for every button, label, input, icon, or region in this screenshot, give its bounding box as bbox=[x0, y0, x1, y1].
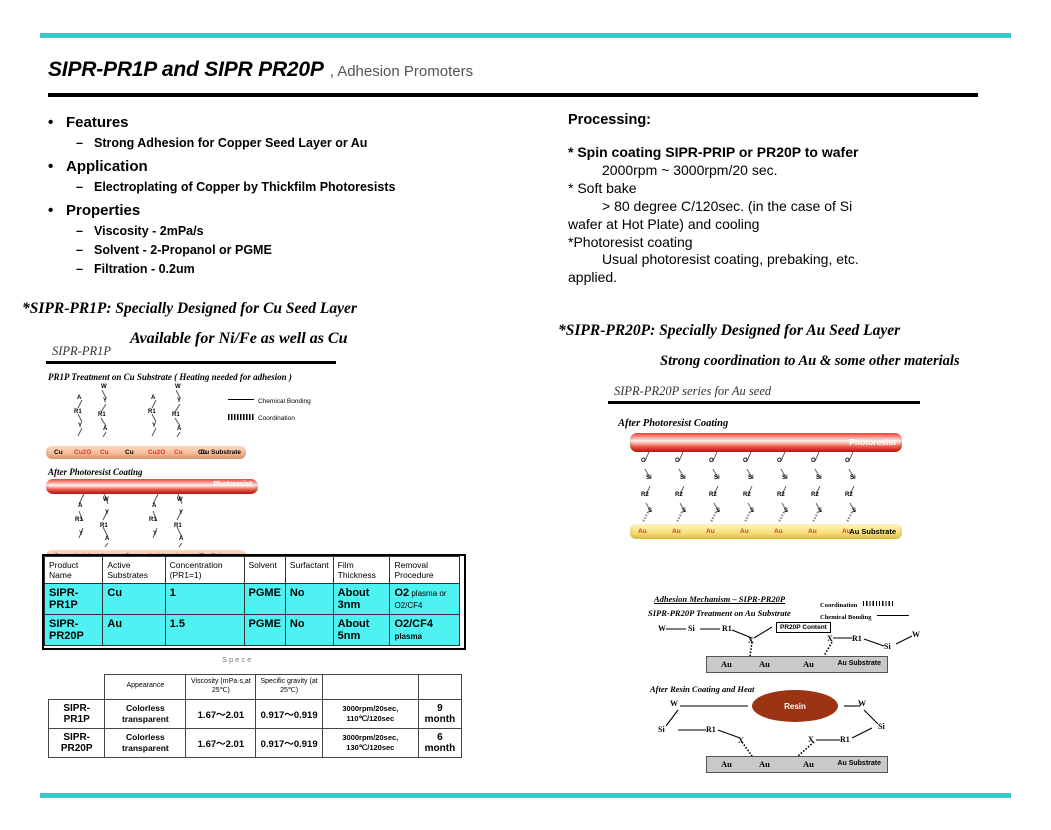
cell-removal: O2/CF4plasma bbox=[390, 615, 460, 646]
chain-lines bbox=[630, 452, 902, 524]
pr20p-panel-caption: SIPR-PR20P series for Au seed bbox=[608, 384, 920, 399]
products-table: Product Name Active Substrates Concentra… bbox=[44, 556, 460, 646]
processing-line: applied. bbox=[568, 269, 1008, 287]
chain-label: W bbox=[103, 497, 109, 503]
dash-glyph: – bbox=[76, 241, 83, 260]
chain-label: R1 bbox=[722, 624, 732, 633]
panel-divider bbox=[608, 401, 920, 404]
chain-label: A bbox=[105, 536, 109, 542]
chain-label: R1 bbox=[174, 523, 182, 529]
col-active-substrates: Active Substrates bbox=[103, 557, 165, 584]
chain-label: Y bbox=[152, 423, 156, 429]
chain-label: Si bbox=[658, 725, 665, 734]
table-header-row: Product Name Active Substrates Concentra… bbox=[45, 557, 460, 584]
cell-removal: O2 plasma or O2/CF4 bbox=[390, 584, 460, 615]
pr20p-content-box: PR20P Content bbox=[776, 622, 831, 633]
chain-label: X bbox=[748, 636, 754, 645]
processing-line: * Soft bake bbox=[568, 180, 1008, 198]
sub-item-label: Electroplating of Copper by Thickfilm Ph… bbox=[94, 180, 395, 194]
bullet-features: • Features –Strong Adhesion for Copper S… bbox=[40, 112, 560, 153]
col-condition bbox=[322, 675, 418, 700]
photoresist-label: Photoresist bbox=[849, 437, 896, 447]
cell-product-name: SIPR-PR20P bbox=[49, 728, 105, 757]
substrate-cell: Au bbox=[740, 528, 749, 535]
chain-label: W bbox=[670, 699, 678, 708]
cell-solvent: PGME bbox=[244, 615, 285, 646]
sub-item-label: Filtration - 0.2um bbox=[94, 262, 195, 276]
cell-concentration: 1.5 bbox=[165, 615, 244, 646]
bullet-glyph: • bbox=[48, 112, 53, 133]
chain-label: R2 bbox=[845, 492, 853, 498]
pr1p-diagram1-caption: PR1P Treatment on Cu Substrate ( Heating… bbox=[48, 372, 336, 382]
chain-label: W bbox=[658, 624, 666, 633]
substrate-cell: Au bbox=[706, 528, 715, 535]
chain-label: O bbox=[845, 458, 850, 464]
chain-lines bbox=[46, 494, 336, 550]
cell-thickness: About 5nm bbox=[333, 615, 390, 646]
bullet-heading: Features bbox=[66, 114, 129, 131]
cell-concentration: 1 bbox=[165, 584, 244, 615]
pr20p-panel: SIPR-PR20P series for Au seed After Phot… bbox=[608, 384, 920, 539]
col-viscosity: Viscosity (mPa·s,at 25℃) bbox=[186, 675, 256, 700]
chain-label: Si bbox=[884, 642, 891, 651]
substrate-cell: Cu bbox=[125, 449, 134, 456]
chain-label: Y bbox=[179, 510, 183, 516]
bottom-accent-bar bbox=[40, 793, 1011, 798]
substrate-label: Au Substrate bbox=[849, 527, 896, 536]
col-appearance: Appearance bbox=[105, 675, 186, 700]
pr1p-headline: *SIPR-PR1P: Specially Designed for Cu Se… bbox=[22, 300, 357, 318]
chain-label: R1 bbox=[172, 412, 180, 418]
chain-label: O bbox=[743, 458, 748, 464]
cell-appearance: Colorless transparent bbox=[105, 728, 186, 757]
chain-label: S bbox=[852, 508, 856, 514]
chain-label: R2 bbox=[743, 492, 751, 498]
processing-line: wafer at Hot Plate) and cooling bbox=[568, 216, 1008, 234]
pr20p-chain-diagram: O Si R2 S O Si R2 S O Si R2 S O Si R2 S … bbox=[630, 452, 902, 524]
substrate-cell: Cu2O bbox=[74, 449, 91, 456]
pr1p-diagram2-caption: After Photoresist Coating bbox=[48, 467, 336, 477]
chain-label: A bbox=[177, 426, 181, 432]
processing-line: * Spin coating SIPR-PRIP or PR20P to waf… bbox=[568, 144, 1008, 162]
sub-item: –Viscosity - 2mPa/s bbox=[66, 222, 560, 241]
features-column: • Features –Strong Adhesion for Copper S… bbox=[40, 112, 560, 282]
cell-viscosity: 1.67～2.01 bbox=[186, 728, 256, 757]
col-surfactant: Surfactant bbox=[285, 557, 333, 584]
chain-label: X bbox=[738, 736, 744, 745]
chain-label: S bbox=[682, 508, 686, 514]
pr1p-panel-caption: SIPR-PR1P bbox=[46, 344, 336, 359]
chain-label: A bbox=[152, 503, 156, 509]
bullet-glyph: • bbox=[48, 200, 53, 221]
chain-label: Y bbox=[79, 531, 83, 537]
chain-label: R1 bbox=[148, 409, 156, 415]
substrate-cell: Au bbox=[803, 659, 814, 669]
col-removal-procedure: Removal Procedure bbox=[390, 557, 460, 584]
substrate-cell: Cu2O bbox=[148, 449, 165, 456]
chain-label: S bbox=[716, 508, 720, 514]
chain-label: R2 bbox=[777, 492, 785, 498]
chain-label: Si bbox=[748, 475, 754, 481]
cell-product-name: SIPR-PR20P bbox=[45, 615, 103, 646]
substrate-cell: Au bbox=[803, 759, 814, 769]
cell-appearance: Colorless transparent bbox=[105, 699, 186, 728]
removal-main: O2/CF4 bbox=[394, 618, 433, 630]
chain-label: R1 bbox=[840, 735, 850, 744]
chain-label: R1 bbox=[852, 634, 862, 643]
processing-line: Usual photoresist coating, prebaking, et… bbox=[568, 251, 1008, 269]
solid-line-icon bbox=[228, 399, 254, 400]
chain-label: Si bbox=[816, 475, 822, 481]
cu-substrate-bar: Cu Cu2O Cu Cu Cu2O Cu Cu Cu Substrate bbox=[46, 446, 246, 459]
cell-thickness: About 3nm bbox=[333, 584, 390, 615]
chain-label: Y bbox=[153, 531, 157, 537]
col-specific-gravity: Specific gravity (at 25℃) bbox=[256, 675, 322, 700]
resin-ellipse: Resin bbox=[752, 690, 838, 722]
col-product-name: Product Name bbox=[45, 557, 103, 584]
chain-label: Si bbox=[850, 475, 856, 481]
chain-label: Si bbox=[688, 624, 695, 633]
col-solvent: Solvent bbox=[244, 557, 285, 584]
sub-item: –Filtration - 0.2um bbox=[66, 260, 560, 279]
sub-item-label: Solvent - 2-Propanol or PGME bbox=[94, 243, 272, 257]
substrate-cell: Cu bbox=[54, 449, 63, 456]
chain-label: S bbox=[750, 508, 754, 514]
substrate-cell: Au bbox=[808, 528, 817, 535]
chain-label: R1 bbox=[100, 523, 108, 529]
chain-label: R1 bbox=[98, 412, 106, 418]
pr20p-diagram-caption: After Photoresist Coating bbox=[618, 418, 920, 429]
table-row: SIPR-PR1P Cu 1 PGME No About 3nm O2 plas… bbox=[45, 584, 460, 615]
col-shelf-life bbox=[418, 675, 461, 700]
au-substrate-block: Au Au Au Au Substrate bbox=[706, 656, 888, 673]
substrate-cell: Au bbox=[774, 528, 783, 535]
removal-sub: plasma bbox=[394, 632, 422, 641]
chain-label: X bbox=[808, 735, 814, 744]
pr1p-coated-diagram: A R1 Y W Y R1 A A R1 Y W Y R1 A bbox=[46, 494, 336, 550]
processing-heading: Processing: bbox=[568, 112, 1008, 128]
top-accent-bar bbox=[40, 33, 1011, 38]
chain-label: W bbox=[101, 384, 107, 390]
chain-label: S bbox=[818, 508, 822, 514]
chain-label: O bbox=[641, 458, 646, 464]
chain-label: R1 bbox=[149, 517, 157, 523]
chain-label: R2 bbox=[675, 492, 683, 498]
chain-label: R2 bbox=[811, 492, 819, 498]
processing-line: > 80 degree C/120sec. (in the case of Si bbox=[568, 198, 1008, 216]
cell-solvent: PGME bbox=[244, 584, 285, 615]
chain-label: X bbox=[827, 634, 833, 643]
legend-coordination: Coordination bbox=[228, 414, 295, 422]
cell-shelf-life: 6 month bbox=[418, 728, 461, 757]
resin-label: Resin bbox=[784, 702, 806, 711]
cell-condition: 3000rpm/20sec, 110℃/120sec bbox=[322, 699, 418, 728]
chain-label: O bbox=[675, 458, 680, 464]
bullet-heading: Properties bbox=[66, 202, 140, 219]
chain-label: W bbox=[175, 384, 181, 390]
processing-line: 2000rpm ~ 3000rpm/20 sec. bbox=[568, 162, 1008, 180]
dash-glyph: – bbox=[76, 260, 83, 279]
cell-product-name: SIPR-PR1P bbox=[45, 584, 103, 615]
chain-label: Y bbox=[105, 510, 109, 516]
sub-item: –Solvent - 2-Propanol or PGME bbox=[66, 241, 560, 260]
sub-item: –Strong Adhesion for Copper Seed Layer o… bbox=[66, 134, 560, 153]
au-substrate-block: Au Au Au Au Substrate bbox=[706, 756, 888, 773]
legend-chemical-bonding: Chemical Bonding bbox=[228, 398, 311, 405]
col-blank bbox=[49, 675, 105, 700]
title-main: SIPR-PR1P and SIPR PR20P bbox=[48, 58, 324, 81]
resin-diagram: After Resin Coating and Heat Resin W Si … bbox=[648, 684, 948, 774]
slide-title: SIPR-PR1P and SIPR PR20P, Adhesion Promo… bbox=[48, 58, 978, 82]
chain-label: O bbox=[811, 458, 816, 464]
chain-label: S bbox=[648, 508, 652, 514]
sub-list: –Strong Adhesion for Copper Seed Layer o… bbox=[66, 134, 560, 153]
cell-surfactant: No bbox=[285, 584, 333, 615]
removal-main: O2 bbox=[394, 587, 409, 599]
title-subtitle: , Adhesion Promoters bbox=[330, 63, 473, 80]
cell-surfactant: No bbox=[285, 615, 333, 646]
chain-label: A bbox=[151, 395, 155, 401]
chain-label: W bbox=[177, 497, 183, 503]
sub-item-label: Viscosity - 2mPa/s bbox=[94, 224, 204, 238]
cell-shelf-life: 9 month bbox=[418, 699, 461, 728]
pr1p-treatment-diagram: A R1 Y W Y R1 A A R1 Y W Y R1 A Chemical… bbox=[46, 384, 336, 446]
pr20p-headline: *SIPR-PR20P: Specially Designed for Au S… bbox=[558, 322, 900, 340]
substrate-cell: Au bbox=[638, 528, 647, 535]
bullet-application: • Application –Electroplating of Copper … bbox=[40, 156, 560, 197]
specs-table: Appearance Viscosity (mPa·s,at 25℃) Spec… bbox=[48, 674, 462, 758]
photoresist-label: Photoresist bbox=[213, 481, 252, 488]
pr1p-panel: SIPR-PR1P PR1P Treatment on Cu Substrate… bbox=[46, 344, 336, 563]
substrate-cell: Au bbox=[672, 528, 681, 535]
substrate-cell: Au bbox=[759, 759, 770, 769]
sub-list: –Electroplating of Copper by Thickfilm P… bbox=[66, 178, 560, 197]
sub-item-label: Strong Adhesion for Copper Seed Layer or… bbox=[94, 136, 367, 150]
substrate-label: Cu Substrate bbox=[201, 449, 241, 456]
processing-column: Processing: * Spin coating SIPR-PRIP or … bbox=[568, 112, 1008, 287]
cell-substrate: Cu bbox=[103, 584, 165, 615]
chain-label: Si bbox=[646, 475, 652, 481]
cell-viscosity: 1.67～2.01 bbox=[186, 699, 256, 728]
table-header-row: Appearance Viscosity (mPa·s,at 25℃) Spec… bbox=[49, 675, 462, 700]
substrate-cell: Au bbox=[759, 659, 770, 669]
sub-list: –Viscosity - 2mPa/s –Solvent - 2-Propano… bbox=[66, 222, 560, 278]
cell-gravity: 0.917～0.919 bbox=[256, 699, 322, 728]
substrate-label: Au Substrate bbox=[837, 660, 881, 667]
dash-glyph: – bbox=[76, 178, 83, 197]
substrate-cell: Au bbox=[721, 659, 732, 669]
dash-glyph: – bbox=[76, 134, 83, 153]
chain-label: O bbox=[709, 458, 714, 464]
chain-label: A bbox=[103, 426, 107, 432]
chain-label: Y bbox=[177, 398, 181, 404]
cell-gravity: 0.917～0.919 bbox=[256, 728, 322, 757]
chain-label: R1 bbox=[74, 409, 82, 415]
chain-label: A bbox=[179, 536, 183, 542]
bullet-heading: Application bbox=[66, 158, 148, 175]
adhesion-mechanism-diagram: Adhesion Mechanism – SIPR-PR20P SIPR-PR2… bbox=[648, 594, 948, 674]
chain-label: Si bbox=[680, 475, 686, 481]
substrate-cell: Cu bbox=[100, 449, 109, 456]
pr20p-headline-2: Strong coordination to Au & some other m… bbox=[660, 353, 960, 370]
cell-substrate: Au bbox=[103, 615, 165, 646]
bullet-glyph: • bbox=[48, 156, 53, 177]
col-concentration: Concentration (PR1=1) bbox=[165, 557, 244, 584]
cell-condition: 3000rpm/20sec, 130℃/120sec bbox=[322, 728, 418, 757]
dash-glyph: – bbox=[76, 222, 83, 241]
chain-label: R1 bbox=[706, 725, 716, 734]
legend-label: Chemical Bonding bbox=[258, 398, 311, 405]
title-underline bbox=[48, 93, 978, 97]
bullet-list: • Features –Strong Adhesion for Copper S… bbox=[40, 112, 560, 279]
bullet-properties: • Properties –Viscosity - 2mPa/s –Solven… bbox=[40, 200, 560, 279]
table-row: SIPR-PR1P Colorless transparent 1.67～2.0… bbox=[49, 699, 462, 728]
photoresist-bar: Photoresist bbox=[46, 479, 258, 494]
panel-divider bbox=[46, 361, 336, 364]
chain-label: R1 bbox=[75, 517, 83, 523]
chain-label: A bbox=[77, 395, 81, 401]
substrate-label: Au Substrate bbox=[837, 760, 881, 767]
chain-label: Si bbox=[714, 475, 720, 481]
table-row: SIPR-PR20P Au 1.5 PGME No About 5nm O2/C… bbox=[45, 615, 460, 646]
products-table-caption: Spece bbox=[222, 655, 253, 664]
substrate-cell: Au bbox=[721, 759, 732, 769]
photoresist-bar: Photoresist bbox=[630, 433, 902, 452]
substrate-cell: Cu bbox=[174, 449, 183, 456]
chain-label: R2 bbox=[641, 492, 649, 498]
chain-label: A bbox=[78, 503, 82, 509]
au-substrate-bar: Au Au Au Au Au Au Au Au Substrate bbox=[630, 524, 902, 539]
cell-product-name: SIPR-PR1P bbox=[49, 699, 105, 728]
chain-label: O bbox=[777, 458, 782, 464]
table-row: SIPR-PR20P Colorless transparent 1.67～2.… bbox=[49, 728, 462, 757]
legend-label: Coordination bbox=[258, 415, 295, 422]
processing-line: *Photoresist coating bbox=[568, 234, 1008, 252]
chain-label: S bbox=[784, 508, 788, 514]
chain-label: Y bbox=[78, 423, 82, 429]
chain-label: R2 bbox=[709, 492, 717, 498]
chain-label: Si bbox=[878, 722, 885, 731]
col-film-thickness: Film Thickness bbox=[333, 557, 390, 584]
dashed-line-icon bbox=[228, 414, 254, 420]
chain-label: W bbox=[912, 630, 920, 639]
chain-label: Y bbox=[103, 398, 107, 404]
chain-label: Si bbox=[782, 475, 788, 481]
chain-label: W bbox=[858, 699, 866, 708]
sub-item: –Electroplating of Copper by Thickfilm P… bbox=[66, 178, 560, 197]
